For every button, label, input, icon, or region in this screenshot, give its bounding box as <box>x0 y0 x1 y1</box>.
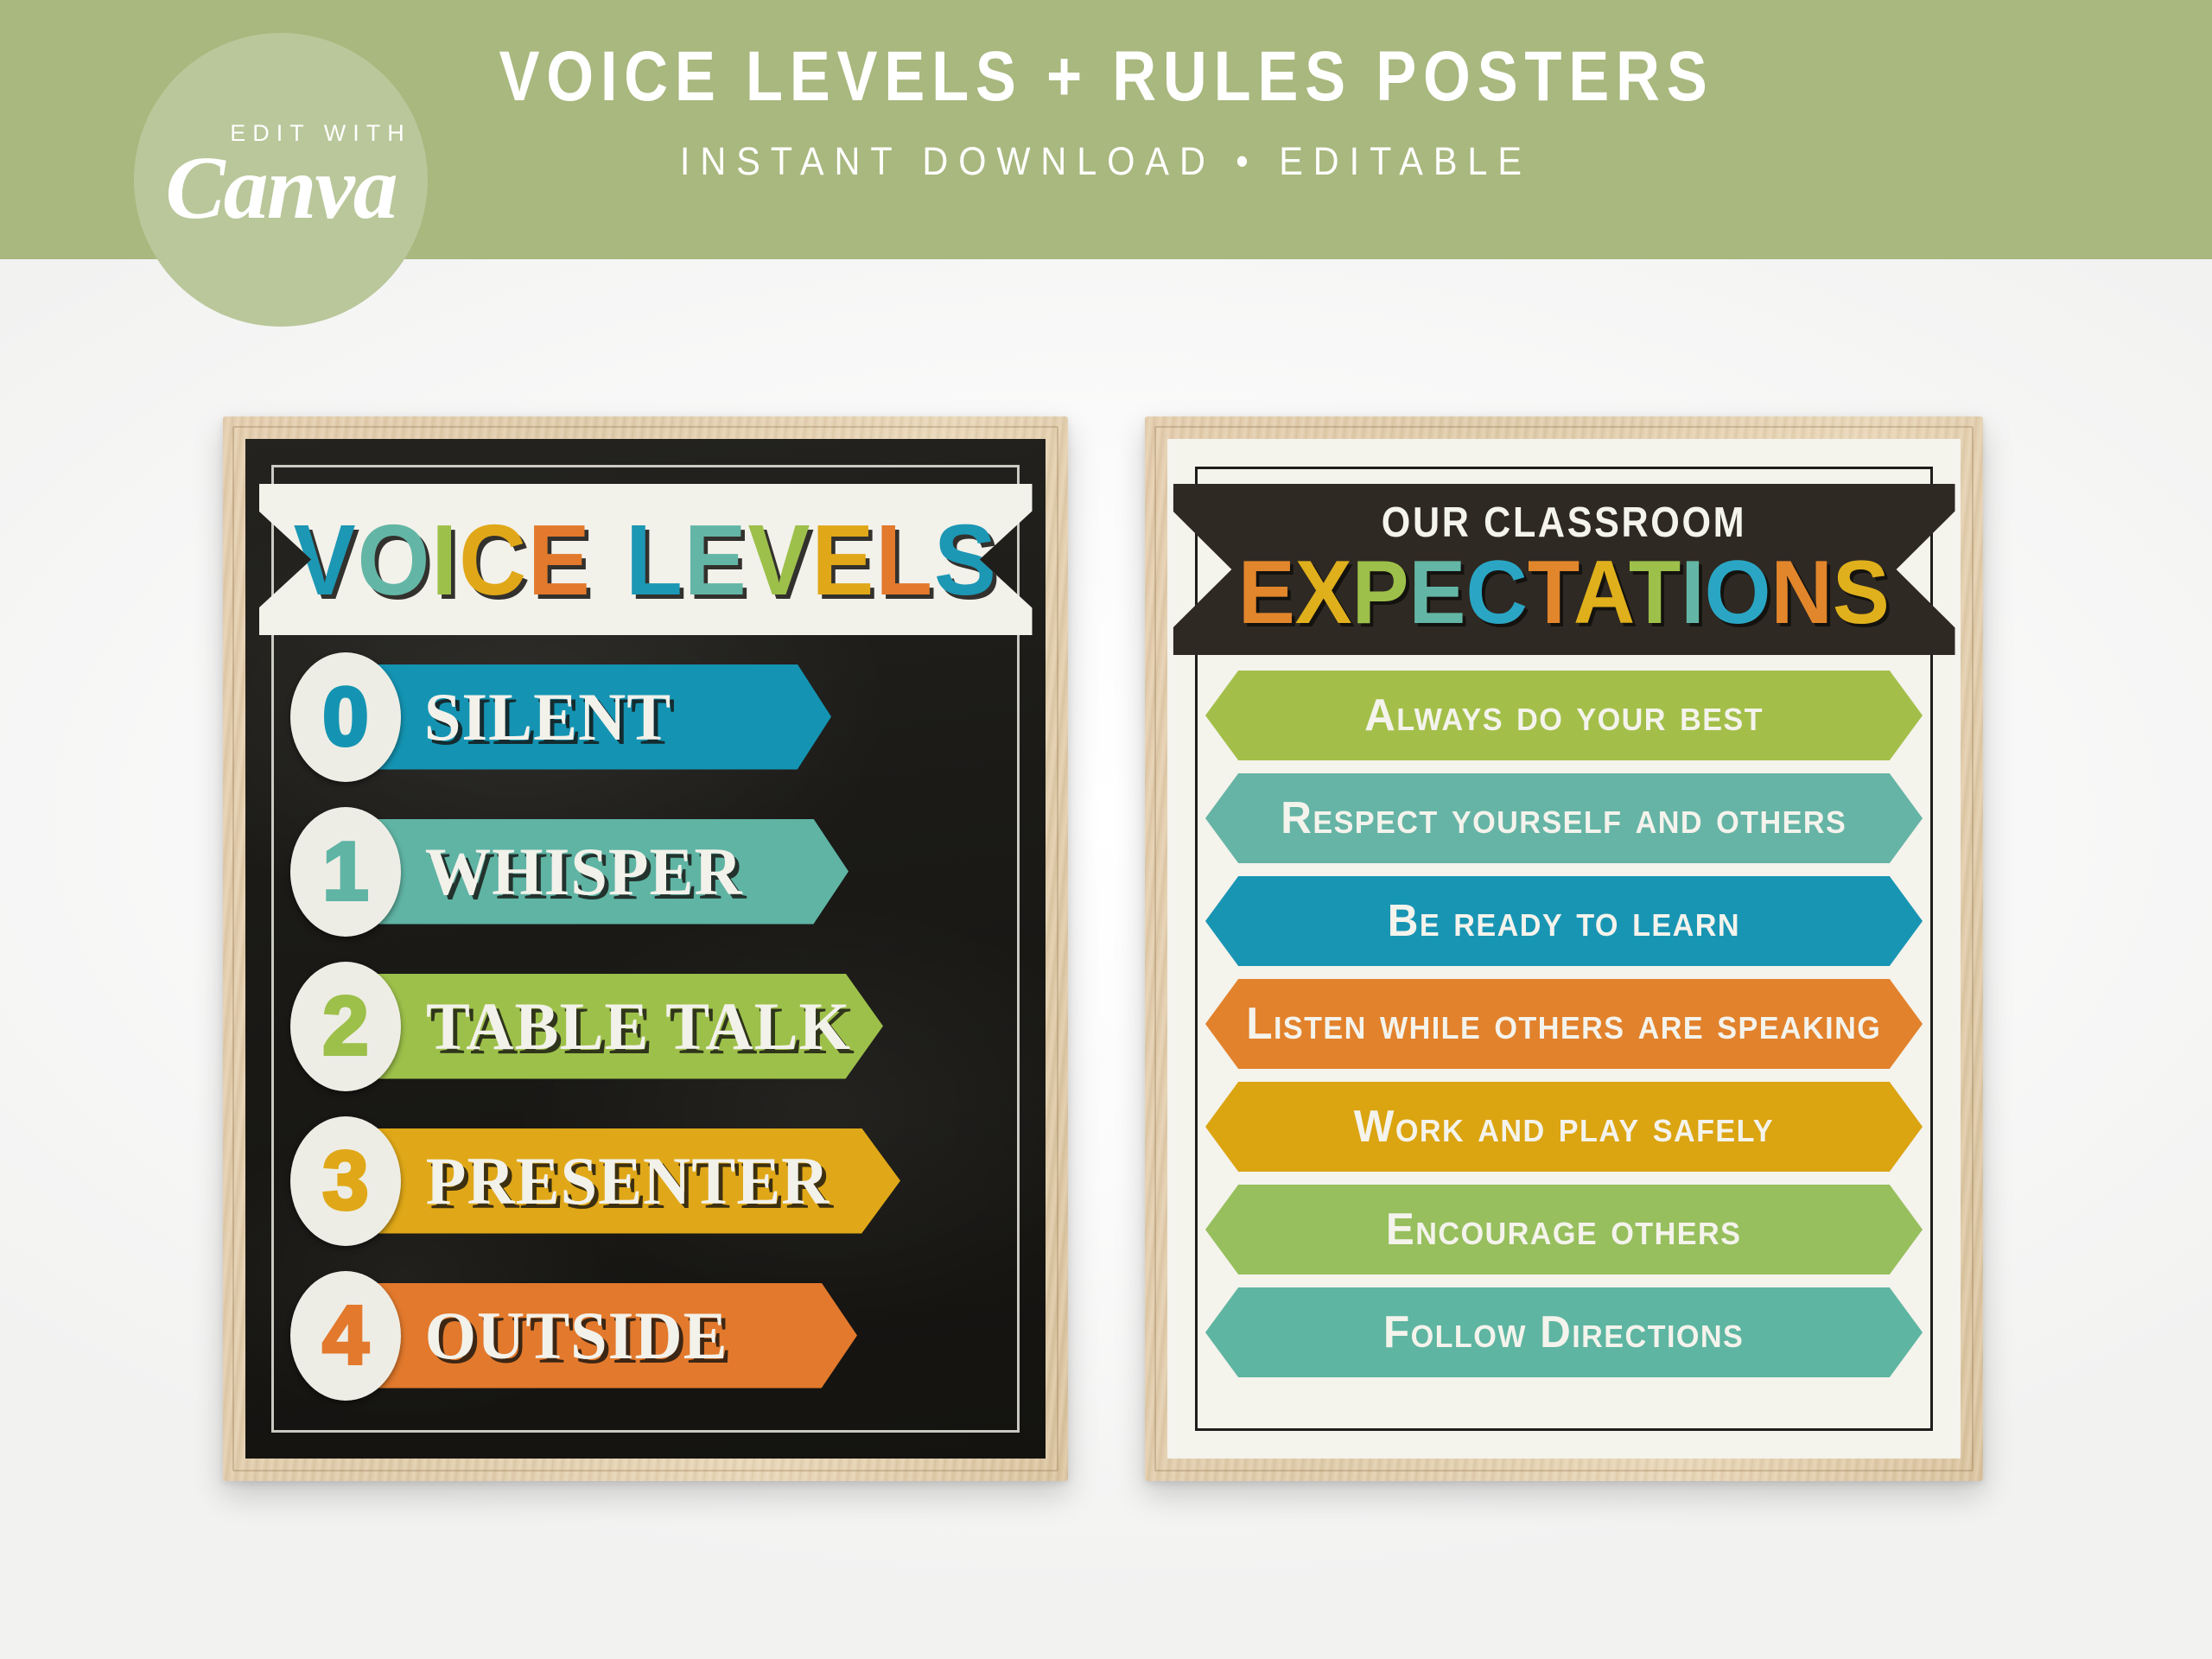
expectations-title-letter: E <box>1409 543 1466 643</box>
classroom-rule-row: Be ready to learn <box>1205 876 1923 966</box>
voice-level-number: 1 <box>322 830 368 913</box>
voice-levels-list: SILENT0WHISPER1TABLE TALK2PRESENTER3OUTS… <box>278 649 1013 1403</box>
voice-level-number-badge: 2 <box>290 962 401 1091</box>
voice-levels-title-letter: E <box>684 504 748 616</box>
expectations-title-letter: I <box>1681 543 1704 643</box>
voice-level-arrow: OUTSIDE <box>347 1283 857 1389</box>
expectations-title-letter: P <box>1352 543 1409 643</box>
voice-level-row: OUTSIDE4 <box>290 1268 1013 1403</box>
expectations-title-letter: S <box>1833 543 1890 643</box>
classroom-rule-row: Follow Directions <box>1205 1287 1923 1377</box>
canva-wordmark: Canva <box>165 137 396 239</box>
picture-frame-voice-levels: VOICE LEVELS SILENT0WHISPER1TABLE TALK2P… <box>223 416 1068 1481</box>
voice-level-number: 3 <box>322 1140 368 1223</box>
classroom-rule-row: Always do your best <box>1205 671 1923 760</box>
edit-with-canva-badge: EDIT WITH Canva <box>134 33 428 327</box>
voice-level-label: OUTSIDE <box>425 1302 728 1370</box>
picture-frame-classroom-expectations: OUR CLASSROOM EXPECTATIONS Always do you… <box>1145 416 1983 1481</box>
voice-levels-title-letter: V <box>293 504 357 616</box>
voice-level-arrow: WHISPER <box>347 819 849 925</box>
voice-levels-title-letter: O <box>357 504 431 616</box>
voice-level-label: TABLE TALK <box>426 993 851 1060</box>
expectations-title-banner: OUR CLASSROOM EXPECTATIONS <box>1173 484 1955 655</box>
classroom-rule-row: Listen while others are speaking <box>1205 979 1923 1069</box>
voice-level-label: SILENT <box>424 683 671 751</box>
classroom-rule-text: Always do your best <box>1364 693 1764 738</box>
voice-level-row: PRESENTER3 <box>290 1113 1013 1249</box>
classroom-rule-text: Respect yourself and others <box>1281 796 1847 841</box>
expectations-title-letter: N <box>1771 543 1833 643</box>
expectations-eyebrow: OUR CLASSROOM <box>1382 502 1746 544</box>
poster-mockup-screenshot: VOICE LEVELS + RULES POSTERS INSTANT DOW… <box>0 0 2212 1659</box>
frame-inner-right: OUR CLASSROOM EXPECTATIONS Always do you… <box>1167 439 1961 1459</box>
promo-title: VOICE LEVELS + RULES POSTERS <box>499 41 1713 112</box>
expectations-title: EXPECTATIONS <box>1238 548 1890 638</box>
promo-subtitle: INSTANT DOWNLOAD • EDITABLE <box>680 142 1532 181</box>
classroom-rule-text: Encourage others <box>1386 1207 1741 1252</box>
voice-level-row: WHISPER1 <box>290 804 1013 939</box>
classroom-rule-row: Respect yourself and others <box>1205 773 1923 863</box>
voice-levels-title-letter: E <box>528 504 592 616</box>
voice-levels-title-letter: I <box>431 504 459 616</box>
voice-level-arrow: TABLE TALK <box>347 974 883 1079</box>
voice-level-number-badge: 3 <box>290 1116 401 1246</box>
expectations-title-letter: X <box>1295 543 1352 643</box>
voice-level-number: 4 <box>322 1294 368 1377</box>
voice-level-number: 0 <box>322 676 368 759</box>
expectations-title-letter: E <box>1238 543 1295 643</box>
voice-level-arrow: SILENT <box>347 664 831 770</box>
classroom-rules-list: Always do your bestRespect yourself and … <box>1200 671 1928 1377</box>
voice-levels-title-letter: S <box>934 504 998 616</box>
expectations-title-letter: A <box>1573 543 1629 643</box>
voice-level-number: 2 <box>322 985 368 1068</box>
classroom-rule-text: Work and play safely <box>1354 1104 1774 1149</box>
classroom-rule-row: Encourage others <box>1205 1185 1923 1274</box>
classroom-rule-text: Listen while others are speaking <box>1247 1001 1882 1046</box>
voice-level-number-badge: 0 <box>290 652 401 782</box>
classroom-rule-row: Work and play safely <box>1205 1082 1923 1172</box>
expectations-title-letter: T <box>1629 543 1681 643</box>
voice-levels-title-banner: VOICE LEVELS <box>259 484 1033 635</box>
voice-level-number-badge: 1 <box>290 807 401 937</box>
expectations-title-letter: O <box>1705 543 1771 643</box>
voice-levels-title-letter: L <box>626 504 684 616</box>
voice-levels-title: VOICE LEVELS <box>293 510 997 610</box>
voice-level-arrow: PRESENTER <box>347 1128 900 1234</box>
voice-level-label: PRESENTER <box>426 1147 830 1215</box>
classroom-expectations-poster: OUR CLASSROOM EXPECTATIONS Always do you… <box>1167 439 1961 1459</box>
voice-levels-poster: VOICE LEVELS SILENT0WHISPER1TABLE TALK2P… <box>245 439 1046 1459</box>
voice-levels-title-letter: C <box>459 504 528 616</box>
expectations-title-letter: C <box>1466 543 1528 643</box>
voice-levels-title-letter: E <box>811 504 875 616</box>
expectations-title-letter: T <box>1528 543 1573 643</box>
classroom-rule-text: Be ready to learn <box>1388 899 1740 944</box>
voice-level-row: SILENT0 <box>290 649 1013 785</box>
voice-levels-title-letter: V <box>747 504 811 616</box>
voice-level-number-badge: 4 <box>290 1271 401 1401</box>
frame-inner-left: VOICE LEVELS SILENT0WHISPER1TABLE TALK2P… <box>245 439 1046 1459</box>
voice-level-label: WHISPER <box>425 838 743 906</box>
voice-levels-title-letter <box>591 504 625 616</box>
classroom-rule-text: Follow Directions <box>1383 1310 1744 1355</box>
voice-levels-title-letter: L <box>875 504 934 616</box>
voice-level-row: TABLE TALK2 <box>290 958 1013 1094</box>
